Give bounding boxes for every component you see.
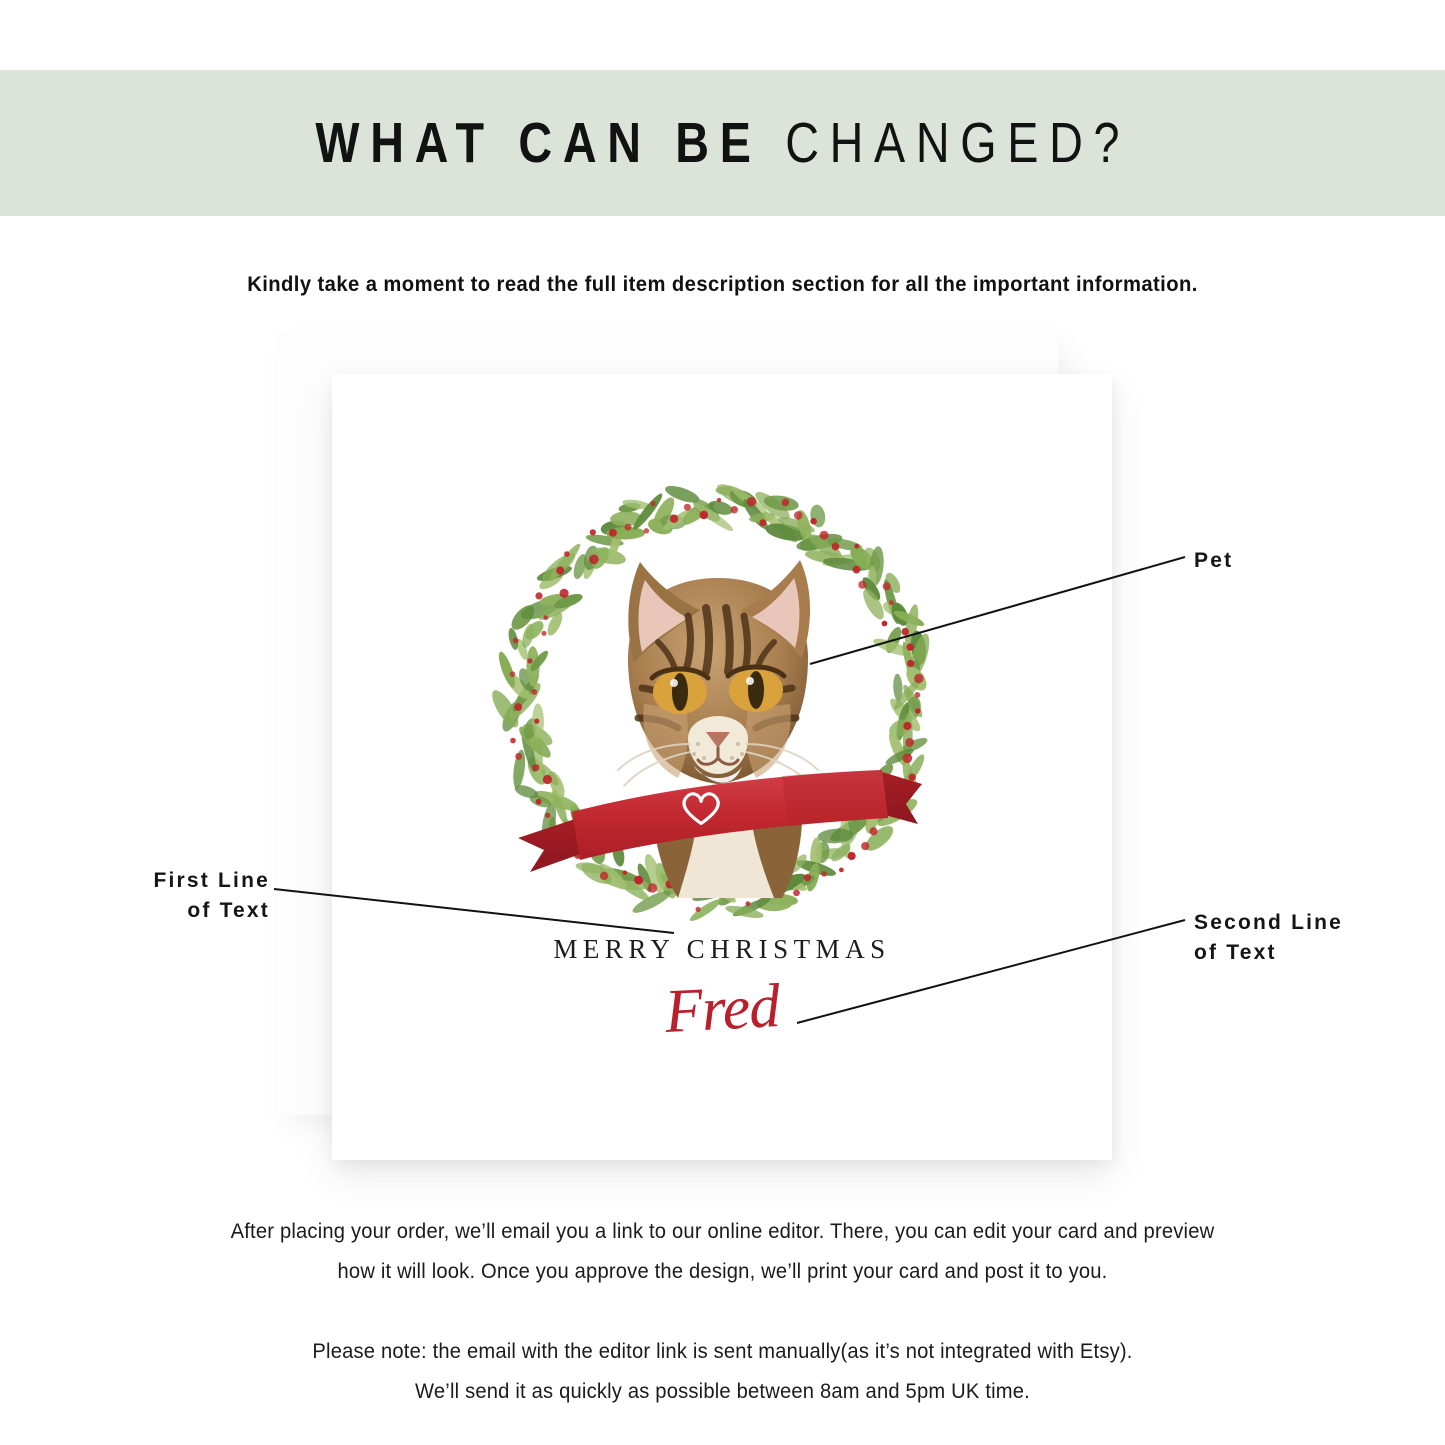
footer-p1-l1: After placing your order, we’ll email yo… bbox=[29, 1212, 1416, 1252]
card-text-line-two: Fred bbox=[331, 954, 1114, 1066]
callout-label-pet: Pet bbox=[1194, 546, 1233, 576]
footer-p2-l1: Please note: the email with the editor l… bbox=[29, 1332, 1416, 1372]
greeting-card-preview[interactable]: MERRY CHRISTMAS Fred bbox=[332, 374, 1112, 1160]
page-title: WHAT CAN BE CHANGED? bbox=[315, 115, 1130, 172]
promo-page: WHAT CAN BE CHANGED? Kindly take a momen… bbox=[0, 0, 1445, 1445]
subtitle-note: Kindly take a moment to read the full it… bbox=[43, 272, 1401, 297]
page-title-bold: WHAT CAN BE bbox=[315, 111, 761, 175]
callout-label-first-line: First Line of Text bbox=[30, 866, 270, 927]
header-band: WHAT CAN BE CHANGED? bbox=[0, 70, 1445, 216]
cat-illustration bbox=[618, 560, 818, 898]
footer-p2-l2: We’ll send it as quickly as possible bet… bbox=[29, 1372, 1416, 1412]
page-title-light: CHANGED? bbox=[785, 111, 1130, 175]
footer-p1-l2: how it will look. Once you approve the d… bbox=[29, 1252, 1416, 1292]
callout-label-second-line: Second Line of Text bbox=[1194, 908, 1343, 969]
footer-spacer bbox=[29, 1292, 1416, 1332]
footer-notes: After placing your order, we’ll email yo… bbox=[29, 1212, 1416, 1412]
wreath-cat-artwork bbox=[482, 466, 952, 936]
